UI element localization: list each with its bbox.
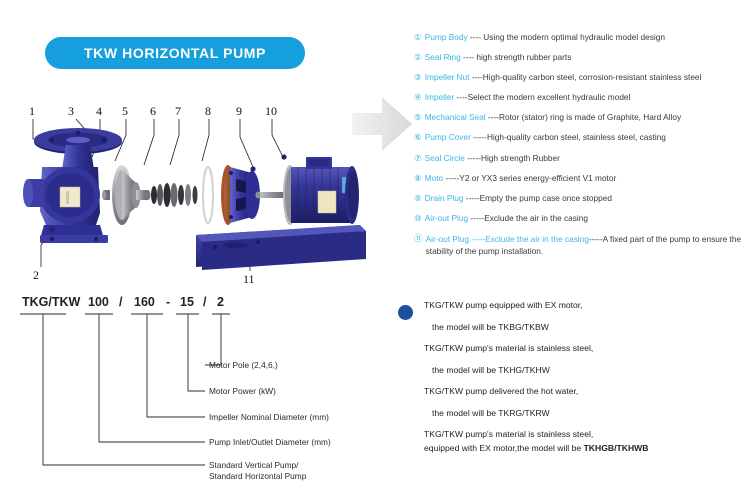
code-power: 15 (180, 295, 194, 309)
feature-number: ① (414, 32, 422, 43)
feature-desc: ----Select the modern excellent hydrauli… (454, 92, 630, 102)
impeller-part (112, 165, 151, 225)
feature-item-4: ④ Impeller ----Select the modern excelle… (414, 92, 756, 103)
note-line-2: the model will be TKBG/TKBW (424, 322, 756, 332)
note-line-8-model: TKHGB/TKHWB (584, 443, 649, 453)
feature-desc: ----High-quality carbon steel, corrosion… (469, 72, 701, 82)
feature-name: Air-out Plug -----Exclude the air in the… (426, 234, 589, 244)
feature-name: Air-out Plug (425, 213, 468, 223)
note-line-8: equipped with EX motor,the model will be… (424, 443, 756, 453)
note-line-6: the model will be TKRG/TKRW (424, 408, 756, 418)
code-slash-2: / (203, 295, 207, 309)
base-plate-part (196, 225, 366, 270)
feature-desc: -----Y2 or YX3 series energy-efficient V… (443, 173, 616, 183)
code-pole: 2 (217, 295, 224, 309)
note-line-8-text: equipped with EX motor,the model will be (424, 443, 584, 453)
feature-item-3: ③ Impeller Nut ----High-quality carbon s… (414, 72, 756, 83)
feature-name: Impeller (425, 92, 455, 102)
code-dash: - (166, 295, 170, 309)
plug-parts (250, 154, 286, 171)
feature-number: ② (414, 52, 422, 63)
feature-item-10: ⑩ Air-out Plug -----Exclude the air in t… (414, 213, 756, 224)
feature-name: Mechanical Seal (425, 112, 486, 122)
feature-number: ⑥ (414, 132, 422, 143)
nomenclature-leader-lines (43, 314, 221, 465)
feature-desc: -----High strength Rubber (465, 153, 560, 163)
feature-number: ③ (414, 72, 422, 83)
feature-number: ④ (414, 92, 422, 103)
code-prefix: TKG/TKW (22, 295, 81, 309)
feature-item-7: ⑦ Seal Circle -----High strength Rubber (414, 153, 756, 164)
callout-8: 8 (205, 104, 211, 118)
flow-arrow-icon (352, 93, 416, 155)
note-line-1: TKG/TKW pump equipped with EX motor, (424, 300, 756, 310)
callout-1: 1 (29, 104, 35, 118)
callout-6: 6 (150, 104, 156, 118)
feature-item-2: ② Seal Ring ---- high strength rubber pa… (414, 52, 756, 63)
feature-desc: ---- high strength rubber parts (461, 52, 572, 62)
nomenclature-label-inlet-dia: Pump Inlet/Outlet Diameter (mm) (209, 437, 331, 447)
exploded-pump-diagram: 1 3 4 5 6 7 8 9 10 2 11 (0, 95, 400, 290)
callout-10: 10 (265, 104, 277, 118)
page-root: TKW HORIZONTAL PUMP (0, 0, 756, 500)
feature-name: Drain Plug (425, 193, 464, 203)
feature-number: ⑨ (414, 193, 422, 204)
feature-list: ① Pump Body ---- Using the modern optima… (414, 32, 756, 266)
nomenclature-label-impeller-dia: Impeller Nominal Diameter (mm) (209, 412, 329, 422)
pump-body-part (23, 128, 122, 243)
feature-item-1: ① Pump Body ---- Using the modern optima… (414, 32, 756, 43)
feature-number: ⑪ (414, 233, 423, 244)
mechanical-seal-parts (151, 183, 198, 207)
feature-name: Seal Circle (425, 153, 465, 163)
feature-name: Pump Body (425, 32, 468, 42)
feature-number: ⑧ (414, 173, 422, 184)
feature-name: Seal Ring (425, 52, 461, 62)
note-line-4: the model will be TKHG/TKHW (424, 365, 756, 375)
feature-number: ⑦ (414, 153, 422, 164)
feature-desc: -----Empty the pump case once stopped (463, 193, 612, 203)
feature-number: ⑤ (414, 112, 422, 123)
model-nomenclature-diagram: TKG/TKW 100 / 160 - 15 / 2 (0, 290, 400, 495)
model-notes-block: TKG/TKW pump equipped with EX motor, the… (398, 300, 756, 465)
callout-2: 2 (33, 268, 39, 282)
nomenclature-label-standard-1: Standard Vertical Pump/ (209, 460, 299, 470)
pump-cover-part (221, 165, 260, 225)
nomenclature-label-standard-2: Standard Horizontal Pump (209, 471, 307, 481)
feature-item-9: ⑨ Drain Plug -----Empty the pump case on… (414, 193, 756, 204)
callout-5: 5 (122, 104, 128, 118)
feature-desc: ----Rotor (stator) ring is made of Graph… (486, 112, 682, 122)
note-line-3: TKG/TKW pump's material is stainless ste… (424, 343, 756, 353)
code-slash-1: / (119, 295, 123, 309)
callout-9: 9 (236, 104, 242, 118)
feature-item-11: ⑪ Air-out Plug -----Exclude the air in t… (414, 233, 756, 257)
feature-name: Moto (425, 173, 443, 183)
nomenclature-label-motor-pole: Motor Pole (2,4,6,) (209, 360, 278, 370)
seal-circle-part (203, 167, 213, 223)
feature-desc: ---- Using the modern optimal hydraulic … (468, 32, 665, 42)
feature-item-8: ⑧ Moto -----Y2 or YX3 series energy-effi… (414, 173, 756, 184)
note-line-5: TKG/TKW pump delivered the hot water, (424, 386, 756, 396)
feature-name: Impeller Nut (425, 72, 470, 82)
feature-number: ⑩ (414, 213, 422, 224)
page-title-banner: TKW HORIZONTAL PUMP (45, 37, 305, 69)
feature-desc: -----Exclude the air in the casing (468, 213, 588, 223)
note-line-7: TKG/TKW pump's material is stainless ste… (424, 429, 756, 439)
code-impeller: 160 (134, 295, 155, 309)
code-inlet: 100 (88, 295, 109, 309)
feature-name: Pump Cover (425, 132, 471, 142)
bullet-dot-icon (398, 305, 413, 320)
callout-3: 3 (68, 104, 74, 118)
motor-part (256, 157, 360, 225)
callout-7: 7 (175, 104, 181, 118)
feature-item-6: ⑥ Pump Cover -----High-quality carbon st… (414, 132, 756, 143)
nomenclature-label-motor-power: Motor Power (kW) (209, 386, 276, 396)
feature-desc: -----High-quality carbon steel, stainles… (471, 132, 666, 142)
impeller-nut-part (102, 190, 110, 200)
feature-item-5: ⑤ Mechanical Seal ----Rotor (stator) rin… (414, 112, 756, 123)
callout-4: 4 (96, 104, 102, 118)
callout-11: 11 (243, 272, 255, 286)
page-title: TKW HORIZONTAL PUMP (84, 45, 266, 61)
